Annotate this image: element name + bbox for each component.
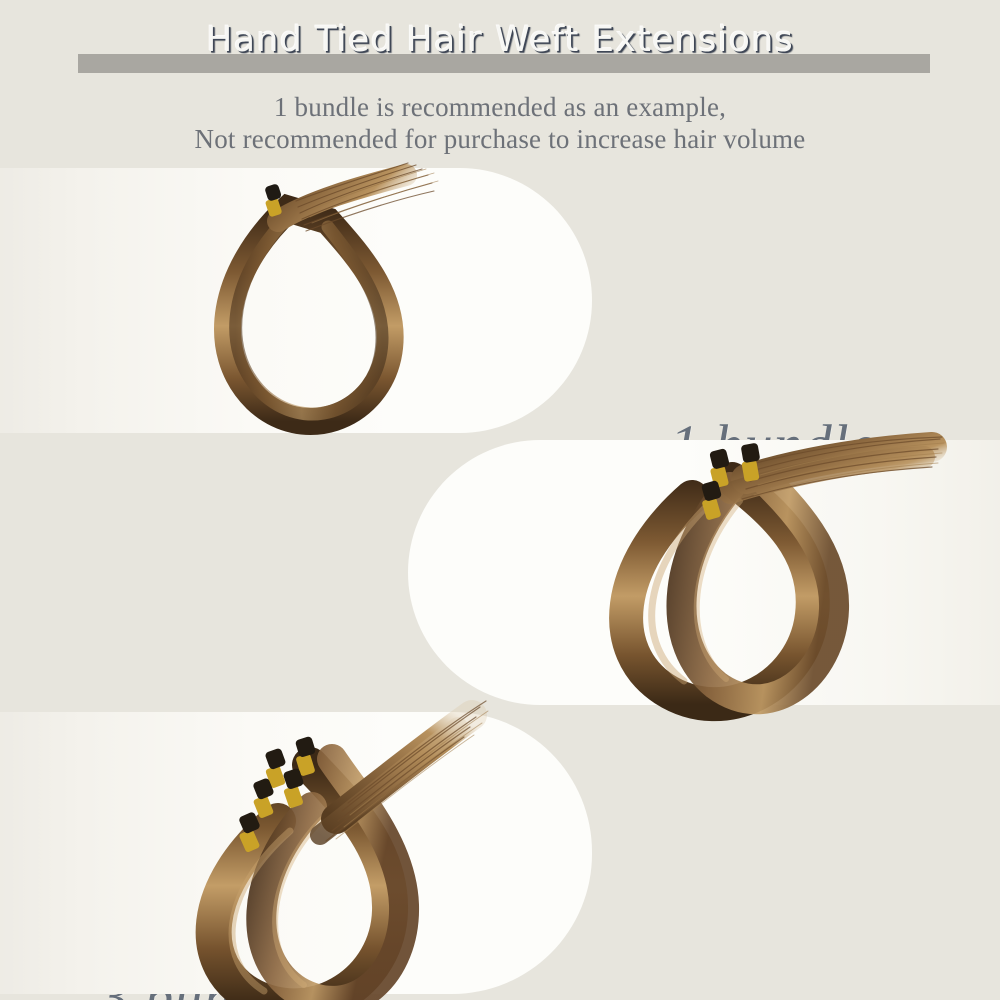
hair-bundle-image-1 [160, 161, 560, 441]
hair-bundle-image-2 [580, 437, 1000, 717]
product-infographic: Hand Tied Hair Weft Extensions 1 bundle … [0, 0, 1000, 1000]
header: Hand Tied Hair Weft Extensions 1 bundle … [0, 0, 1000, 165]
bundle-row-1: 1 bundle [0, 165, 1000, 437]
subtitle-line-1: 1 bundle is recommended as an example, [0, 90, 1000, 124]
page-title: Hand Tied Hair Weft Extensions [0, 20, 1000, 60]
bundle-row-2: 3 bundle [0, 437, 1000, 709]
hair-bundle-image-3 [150, 715, 570, 1000]
bundle-row-3: 5 bundle [0, 709, 1000, 1000]
subtitle-line-2: Not recommended for purchase to increase… [0, 122, 1000, 156]
